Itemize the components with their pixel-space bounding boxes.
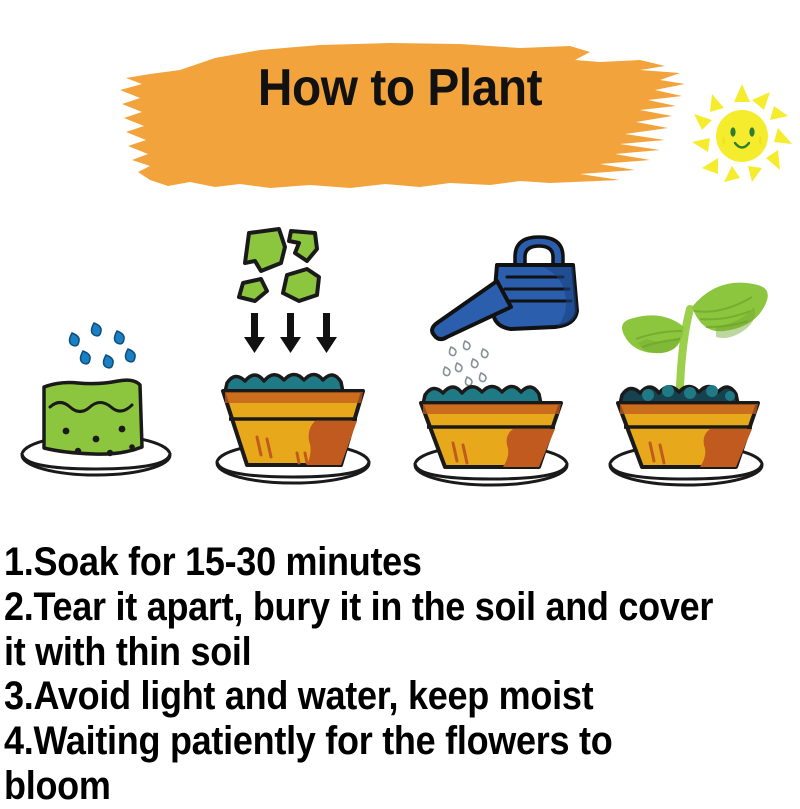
sprout-stem <box>680 309 690 387</box>
instruction-step-4: 4.Waiting patiently for the flowers to b… <box>4 719 717 809</box>
arrows-group <box>244 313 337 353</box>
instruction-step-2: 2.Tear it apart, bury it in the soil and… <box>4 585 717 675</box>
soil-block-shape <box>44 380 142 454</box>
torn-pieces-group <box>239 229 319 301</box>
watering-can-handle <box>515 237 563 265</box>
pot-shadow-rim <box>423 404 561 414</box>
instruction-step-3: 3.Avoid light and water, keep moist <box>4 674 717 719</box>
pot-shadow-rim <box>620 404 758 414</box>
instruction-step-1: 1.Soak for 15-30 minutes <box>4 540 717 585</box>
sun-cheek-right <box>760 137 761 144</box>
header-banner-area: How to Plant <box>0 0 800 215</box>
step-illustration-water-pot <box>393 215 593 515</box>
page-title: How to Plant <box>142 62 657 114</box>
step-illustration-soak-block <box>0 215 200 515</box>
pot-shadow-rim <box>225 392 363 403</box>
sun-body <box>716 110 768 162</box>
watering-can-spout <box>432 281 511 339</box>
step-illustration-tear-and-bury <box>195 215 395 515</box>
water-droplets-group <box>70 323 136 368</box>
sun-eye-right <box>749 127 754 136</box>
step-illustration-sprout-grown <box>588 215 788 515</box>
sun-eye-left <box>730 127 735 136</box>
sun-cheek-left <box>723 137 724 144</box>
steps-illustration-strip <box>0 215 800 515</box>
sun-icon <box>690 82 794 186</box>
watering-can-icon <box>432 237 577 339</box>
watering-droplets-group <box>444 341 489 386</box>
instruction-list: 1.Soak for 15-30 minutes 2.Tear it apart… <box>4 540 796 809</box>
